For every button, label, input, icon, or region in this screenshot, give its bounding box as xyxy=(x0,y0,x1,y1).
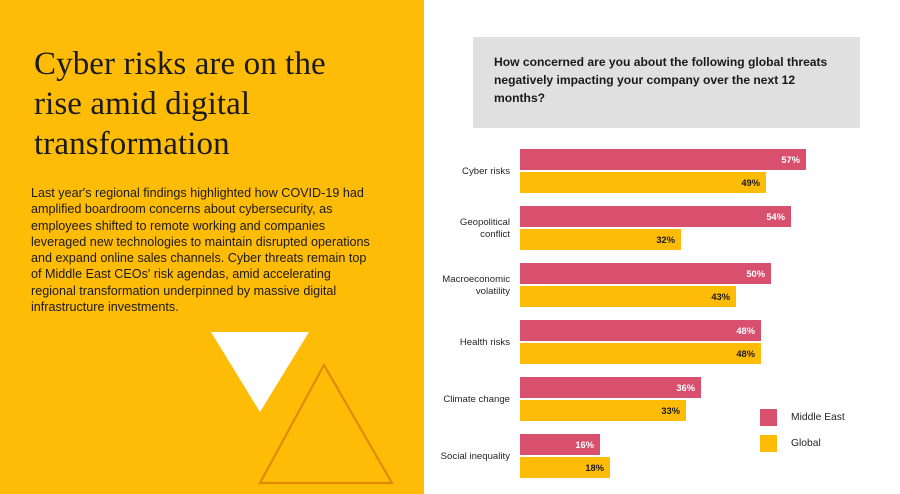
bar-pair: 48% 48% xyxy=(520,319,900,367)
bar-middle-east[interactable]: 16% xyxy=(520,434,600,455)
category-label-line: Macroeconomic xyxy=(442,274,510,287)
legend-item-global[interactable]: Global xyxy=(760,430,890,456)
bar-value: 48% xyxy=(736,349,761,359)
bar-middle-east[interactable]: 54% xyxy=(520,206,791,227)
bar-global[interactable]: 49% xyxy=(520,172,766,193)
upright-triangle-outline-icon xyxy=(256,360,396,488)
chart-group: Health risks 48% 48% xyxy=(424,319,900,367)
legend-item-middle-east[interactable]: Middle East xyxy=(760,404,890,430)
category-label-line: volatility xyxy=(476,286,510,299)
bar-global[interactable]: 33% xyxy=(520,400,686,421)
bar-pair: 50% 43% xyxy=(520,262,900,310)
category-label: Health risks xyxy=(424,319,515,367)
category-label: Cyber risks xyxy=(424,148,515,196)
left-intro-panel: Cyber risks are on the rise amid digital… xyxy=(0,0,424,494)
legend-label: Global xyxy=(791,438,821,449)
chart-group: Macroeconomic volatility 50% 43% xyxy=(424,262,900,310)
category-label-line: Health risks xyxy=(460,337,510,350)
survey-question-text: How concerned are you about the followin… xyxy=(494,53,846,107)
legend-swatch-icon xyxy=(760,409,777,426)
bar-value: 50% xyxy=(746,269,771,279)
category-label: Geopolitical conflict xyxy=(424,205,515,253)
intro-paragraph: Last year's regional findings highlighte… xyxy=(31,185,377,315)
category-label-line: Social inequality xyxy=(441,451,510,464)
bar-value: 32% xyxy=(656,235,681,245)
bar-value: 54% xyxy=(766,212,791,222)
bar-value: 48% xyxy=(736,326,761,336)
bar-middle-east[interactable]: 36% xyxy=(520,377,701,398)
slide-canvas: Cyber risks are on the rise amid digital… xyxy=(0,0,900,494)
bar-pair: 57% 49% xyxy=(520,148,900,196)
legend-swatch-icon xyxy=(760,435,777,452)
bar-global[interactable]: 48% xyxy=(520,343,761,364)
survey-question-box: How concerned are you about the followin… xyxy=(473,37,860,128)
category-label-line: Geopolitical xyxy=(460,217,510,230)
bar-value: 49% xyxy=(741,178,766,188)
category-label: Macroeconomic volatility xyxy=(424,262,515,310)
bar-value: 57% xyxy=(781,155,806,165)
page-title: Cyber risks are on the rise amid digital… xyxy=(34,44,374,164)
chart-group: Cyber risks 57% 49% xyxy=(424,148,900,196)
category-label-line: Cyber risks xyxy=(462,166,510,179)
category-label: Social inequality xyxy=(424,433,515,481)
chart-legend: Middle East Global xyxy=(760,404,890,456)
category-label: Climate change xyxy=(424,376,515,424)
bar-value: 18% xyxy=(585,463,610,473)
category-label-line: conflict xyxy=(480,229,510,242)
legend-label: Middle East xyxy=(791,412,845,423)
bar-middle-east[interactable]: 57% xyxy=(520,149,806,170)
chart-group: Geopolitical conflict 54% 32% xyxy=(424,205,900,253)
bar-middle-east[interactable]: 48% xyxy=(520,320,761,341)
bar-global[interactable]: 32% xyxy=(520,229,681,250)
bar-global[interactable]: 18% xyxy=(520,457,610,478)
bar-pair: 54% 32% xyxy=(520,205,900,253)
right-chart-panel: How concerned are you about the followin… xyxy=(424,0,900,494)
bar-value: 33% xyxy=(661,406,686,416)
bar-value: 16% xyxy=(575,440,600,450)
bar-middle-east[interactable]: 50% xyxy=(520,263,771,284)
category-label-line: Climate change xyxy=(443,394,510,407)
bar-value: 43% xyxy=(711,292,736,302)
bar-value: 36% xyxy=(676,383,701,393)
bar-global[interactable]: 43% xyxy=(520,286,736,307)
